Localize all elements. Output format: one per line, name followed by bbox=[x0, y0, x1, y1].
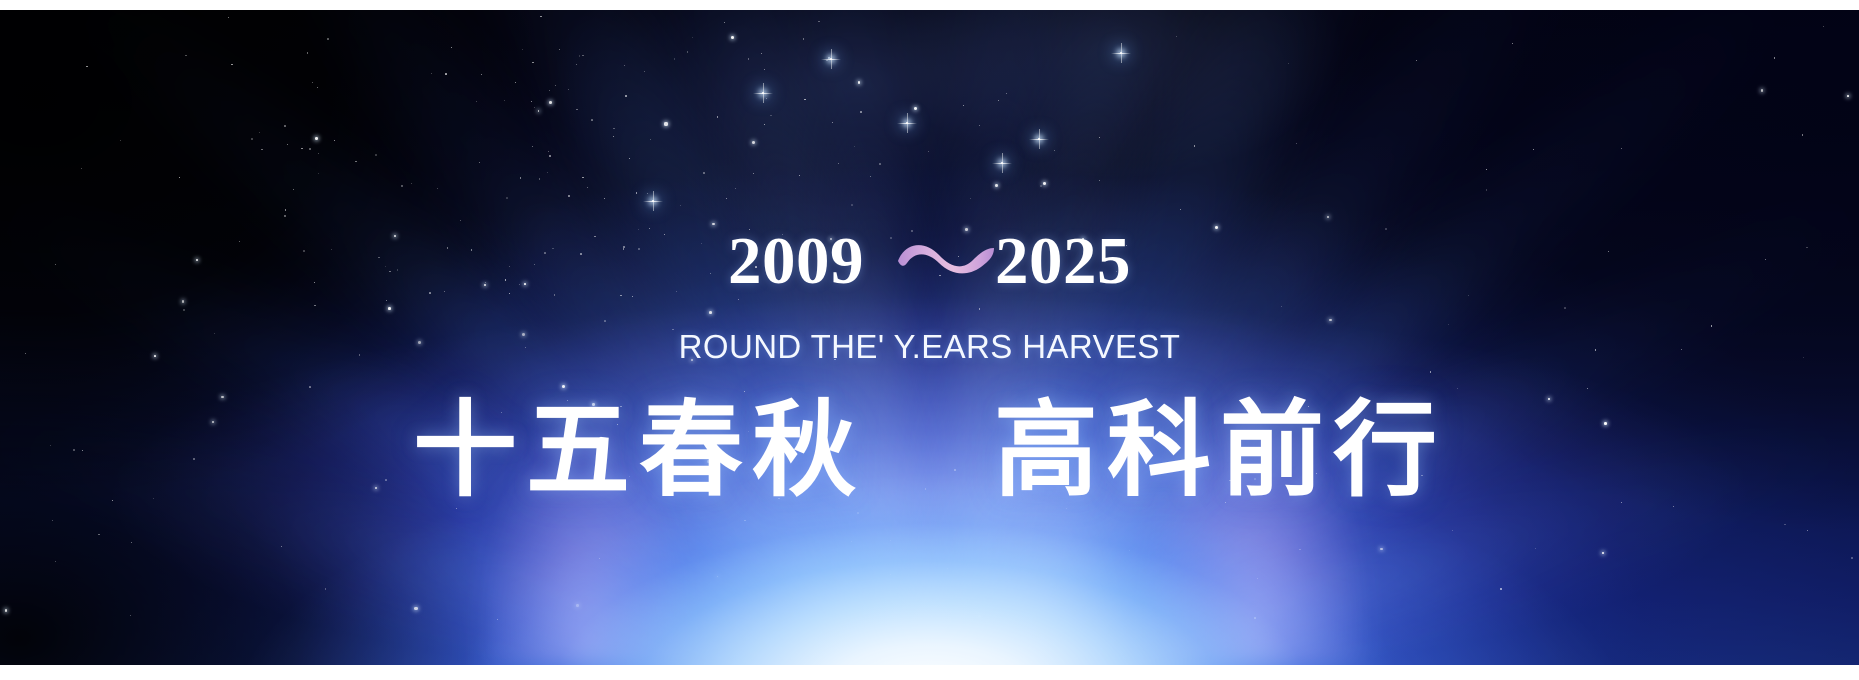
headline-left: 十五春秋 bbox=[413, 392, 865, 508]
year-start: 2009 bbox=[728, 228, 864, 295]
year-end: 2025 bbox=[995, 228, 1131, 295]
banner-artwork: 2009 bbox=[0, 10, 1859, 665]
wave-tilde-icon bbox=[895, 232, 999, 292]
year-range: 2009 bbox=[0, 228, 1859, 295]
banner-headline: 十五春秋 高科前行 bbox=[0, 392, 1859, 508]
banner-subtitle: ROUND THE' Y.EARS HARVEST bbox=[0, 328, 1859, 366]
banner-frame: 2009 bbox=[0, 0, 1859, 680]
banner-text-block: 2009 bbox=[0, 10, 1859, 665]
headline-right: 高科前行 bbox=[994, 392, 1446, 508]
